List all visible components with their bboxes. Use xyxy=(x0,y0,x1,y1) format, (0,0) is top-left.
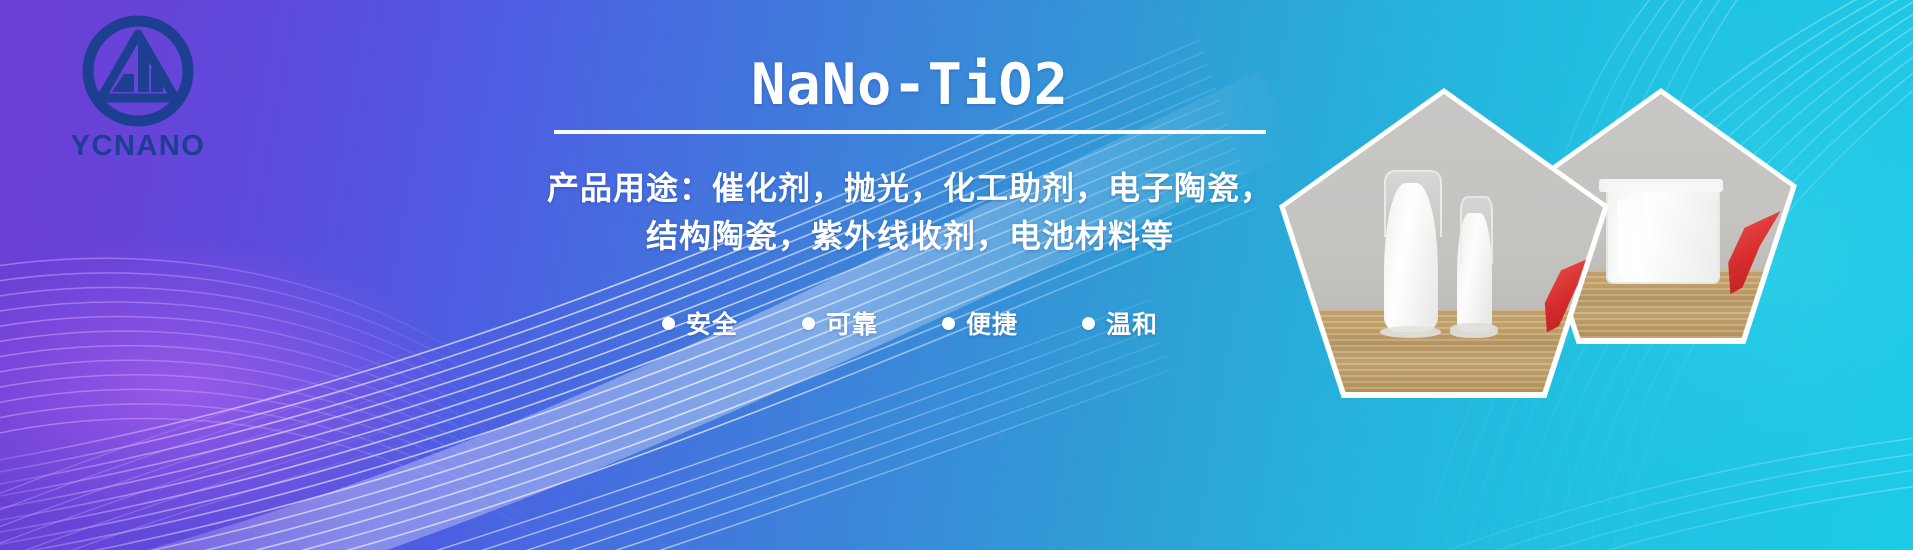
bullet-dot-icon xyxy=(942,317,955,330)
photo-vases-frame xyxy=(1285,94,1603,392)
vase-tall-neck xyxy=(1384,170,1442,238)
bullet-dot-icon xyxy=(1082,317,1095,330)
brand-logo[interactable]: YCNANO xyxy=(48,12,228,161)
vase-slim-neck xyxy=(1460,196,1493,264)
feature-item-mild: 温和 xyxy=(1082,305,1158,341)
feature-item-reliable: 可靠 xyxy=(802,305,878,341)
photo-white-glass-vases xyxy=(1279,88,1609,398)
bullet-dot-icon xyxy=(802,317,815,330)
photo-vases-scene xyxy=(1285,94,1603,392)
feature-item-convenient: 便捷 xyxy=(942,305,1018,341)
brand-wordmark: YCNANO xyxy=(48,132,228,161)
feature-label: 便捷 xyxy=(966,305,1018,341)
vase-slim-base xyxy=(1450,323,1498,338)
feature-label: 安全 xyxy=(686,305,738,341)
beaker-highlight xyxy=(1617,199,1638,277)
feature-label: 温和 xyxy=(1106,305,1158,341)
beaker-rim xyxy=(1599,179,1724,191)
product-banner: YCNANO NaNo-TiO2 产品用途：催化剂，抛光，化工助剂，电子陶瓷， … xyxy=(0,0,1913,550)
product-photo-group xyxy=(1153,0,1913,550)
feature-label: 可靠 xyxy=(826,305,878,341)
ycnano-triangle-in-circle-logo xyxy=(79,12,197,130)
feature-item-safe: 安全 xyxy=(662,305,738,341)
bullet-dot-icon xyxy=(662,317,675,330)
